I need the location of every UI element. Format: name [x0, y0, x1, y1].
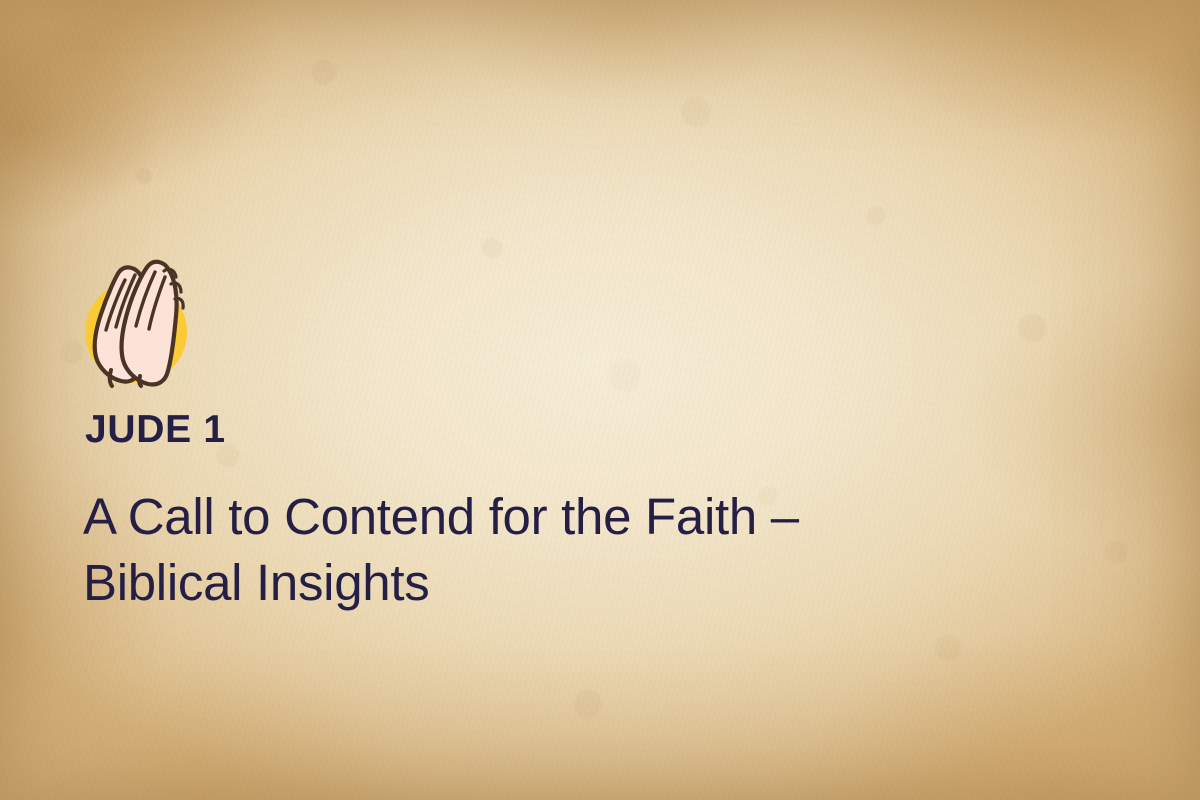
slide-content: JUDE 1 A Call to Contend for the Faith –… — [85, 0, 1095, 800]
page-title: A Call to Contend for the Faith – Biblic… — [83, 484, 1083, 616]
praying-hands-icon — [85, 258, 197, 386]
page-title-line-1: A Call to Contend for the Faith – — [83, 488, 799, 545]
page-title-line-2: Biblical Insights — [83, 554, 429, 611]
page-kicker-jude-1: JUDE 1 — [85, 410, 226, 449]
slide-canvas: JUDE 1 A Call to Contend for the Faith –… — [0, 0, 1200, 800]
